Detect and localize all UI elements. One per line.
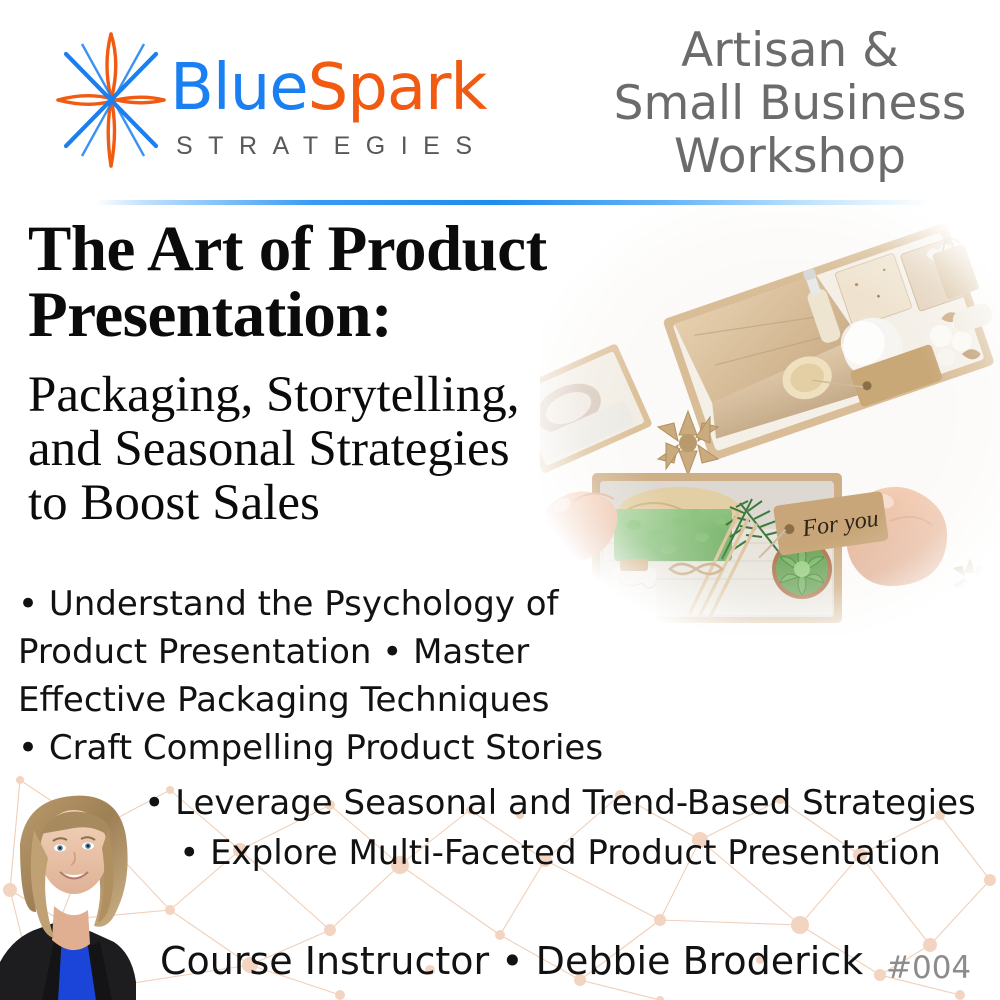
page-title: The Art of Product Presentation: xyxy=(28,216,728,348)
brand-word-blue: Blue xyxy=(170,51,308,125)
course-number-badge: #004 xyxy=(886,950,971,986)
brand-tagline: STRATEGIES xyxy=(176,132,488,161)
slide-header: BlueSpark STRATEGIES Artisan & Small Bus… xyxy=(0,0,1000,195)
spark-star-icon xyxy=(52,30,170,170)
page-subtitle-line1: Packaging, Storytelling, xyxy=(28,368,628,422)
workshop-label: Artisan & Small Business Workshop xyxy=(590,24,990,183)
workshop-label-line3: Workshop xyxy=(590,130,990,183)
objectives-line-5: • Leverage Seasonal and Trend-Based Stra… xyxy=(120,778,1000,828)
objectives-line-2: Product Presentation • Master xyxy=(18,628,598,676)
page-title-line2: Presentation: xyxy=(28,282,728,348)
brand-word-spark: Spark xyxy=(308,51,487,125)
objectives-line-4: • Craft Compelling Product Stories xyxy=(18,724,598,772)
workshop-label-line1: Artisan & xyxy=(590,24,990,77)
workshop-slide: For you xyxy=(0,0,1000,1000)
workshop-label-line2: Small Business xyxy=(590,77,990,130)
objectives-wide-block: • Leverage Seasonal and Trend-Based Stra… xyxy=(120,778,1000,878)
objectives-line-6: • Explore Multi-Faceted Product Presenta… xyxy=(120,828,1000,878)
objectives-line-1: • Understand the Psychology of xyxy=(18,580,598,628)
header-divider xyxy=(95,200,930,205)
brand-logo[interactable]: BlueSpark STRATEGIES xyxy=(52,28,552,168)
page-subtitle-line3: to Boost Sales xyxy=(28,476,628,530)
instructor-credit: Course Instructor • Debbie Broderick xyxy=(160,938,860,984)
page-subtitle: Packaging, Storytelling, and Seasonal St… xyxy=(28,368,628,530)
brand-wordmark: BlueSpark xyxy=(170,56,486,120)
objectives-left-block: • Understand the Psychology of Product P… xyxy=(18,580,598,772)
page-subtitle-line2: and Seasonal Strategies xyxy=(28,422,628,476)
page-title-line1: The Art of Product xyxy=(28,216,728,282)
objectives-line-3: Effective Packaging Techniques xyxy=(18,676,598,724)
